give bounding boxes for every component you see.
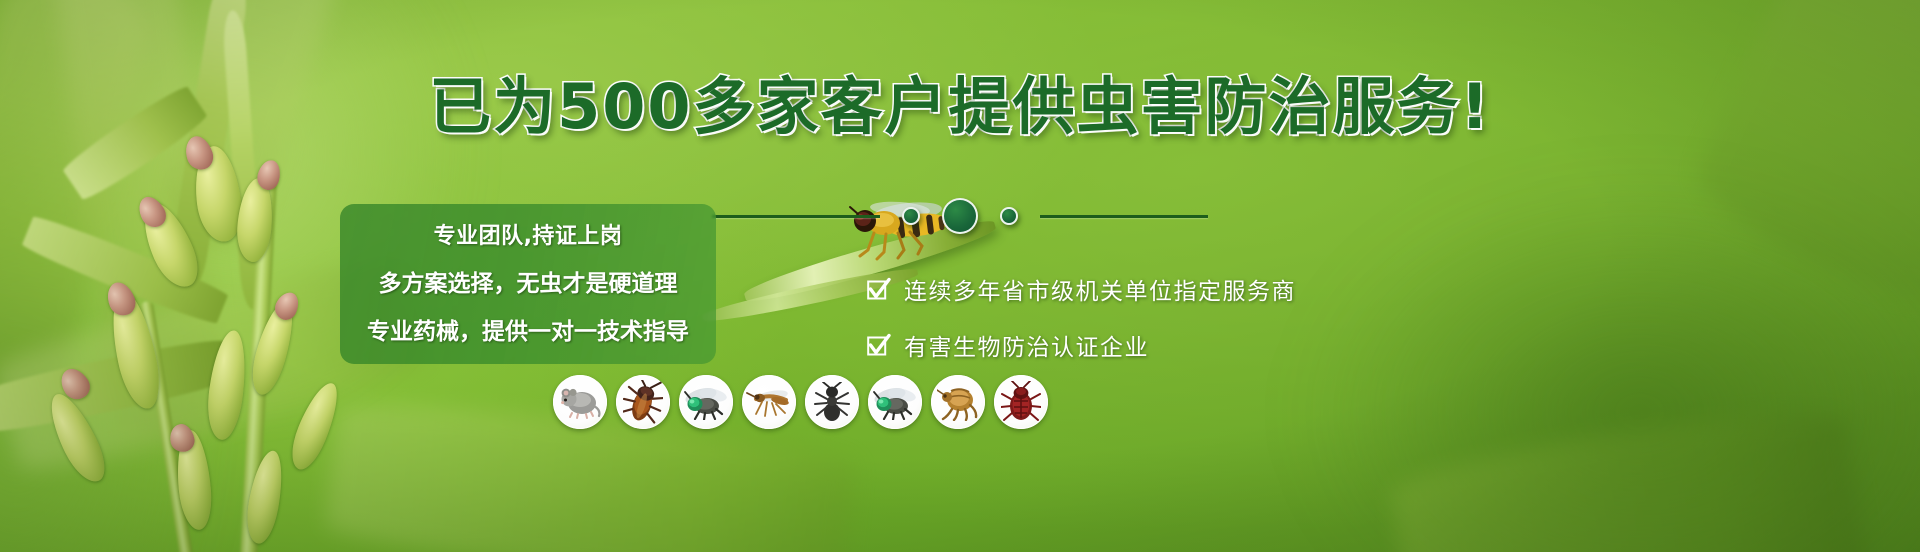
pest-icon-strip	[553, 375, 1048, 429]
flea-icon[interactable]	[931, 375, 985, 429]
promo-banner: 已为500多家客户提供虫害防治服务! 专业团队,持证上岗 多方案选择，无虫才是硬…	[0, 0, 1920, 552]
divider-rule-right	[1040, 215, 1208, 218]
claim-line-1: 专业团队,持证上岗	[434, 218, 623, 250]
housefly-icon[interactable]	[868, 375, 922, 429]
blowfly-icon[interactable]	[679, 375, 733, 429]
checkbox-checked-icon	[866, 333, 891, 358]
divider-rule-left	[712, 215, 880, 218]
credential-item: 有害生物防治认证企业	[866, 328, 1296, 362]
claim-line-3: 专业药械，提供一对一技术指导	[367, 312, 689, 346]
credential-label: 有害生物防治认证企业	[904, 328, 1149, 362]
bedbug-icon[interactable]	[994, 375, 1048, 429]
credential-label: 连续多年省市级机关单位指定服务商	[904, 272, 1296, 306]
cockroach-icon[interactable]	[616, 375, 670, 429]
checkbox-checked-icon	[866, 277, 891, 302]
credential-list: 连续多年省市级机关单位指定服务商 有害生物防治认证企业	[866, 272, 1296, 362]
divider-dot-small-right	[1000, 207, 1018, 225]
divider-dot-large	[942, 198, 978, 234]
credential-item: 连续多年省市级机关单位指定服务商	[866, 272, 1296, 306]
decorative-divider	[0, 198, 1920, 234]
page-title: 已为500多家客户提供虫害防治服务!	[0, 72, 1920, 141]
mosquito-icon[interactable]	[742, 375, 796, 429]
claim-line-2: 多方案选择，无虫才是硬道理	[379, 264, 678, 298]
ant-icon[interactable]	[805, 375, 859, 429]
claims-panel: 专业团队,持证上岗 多方案选择，无虫才是硬道理 专业药械，提供一对一技术指导	[340, 204, 716, 364]
mouse-icon[interactable]	[553, 375, 607, 429]
divider-dot-small-left	[902, 207, 920, 225]
